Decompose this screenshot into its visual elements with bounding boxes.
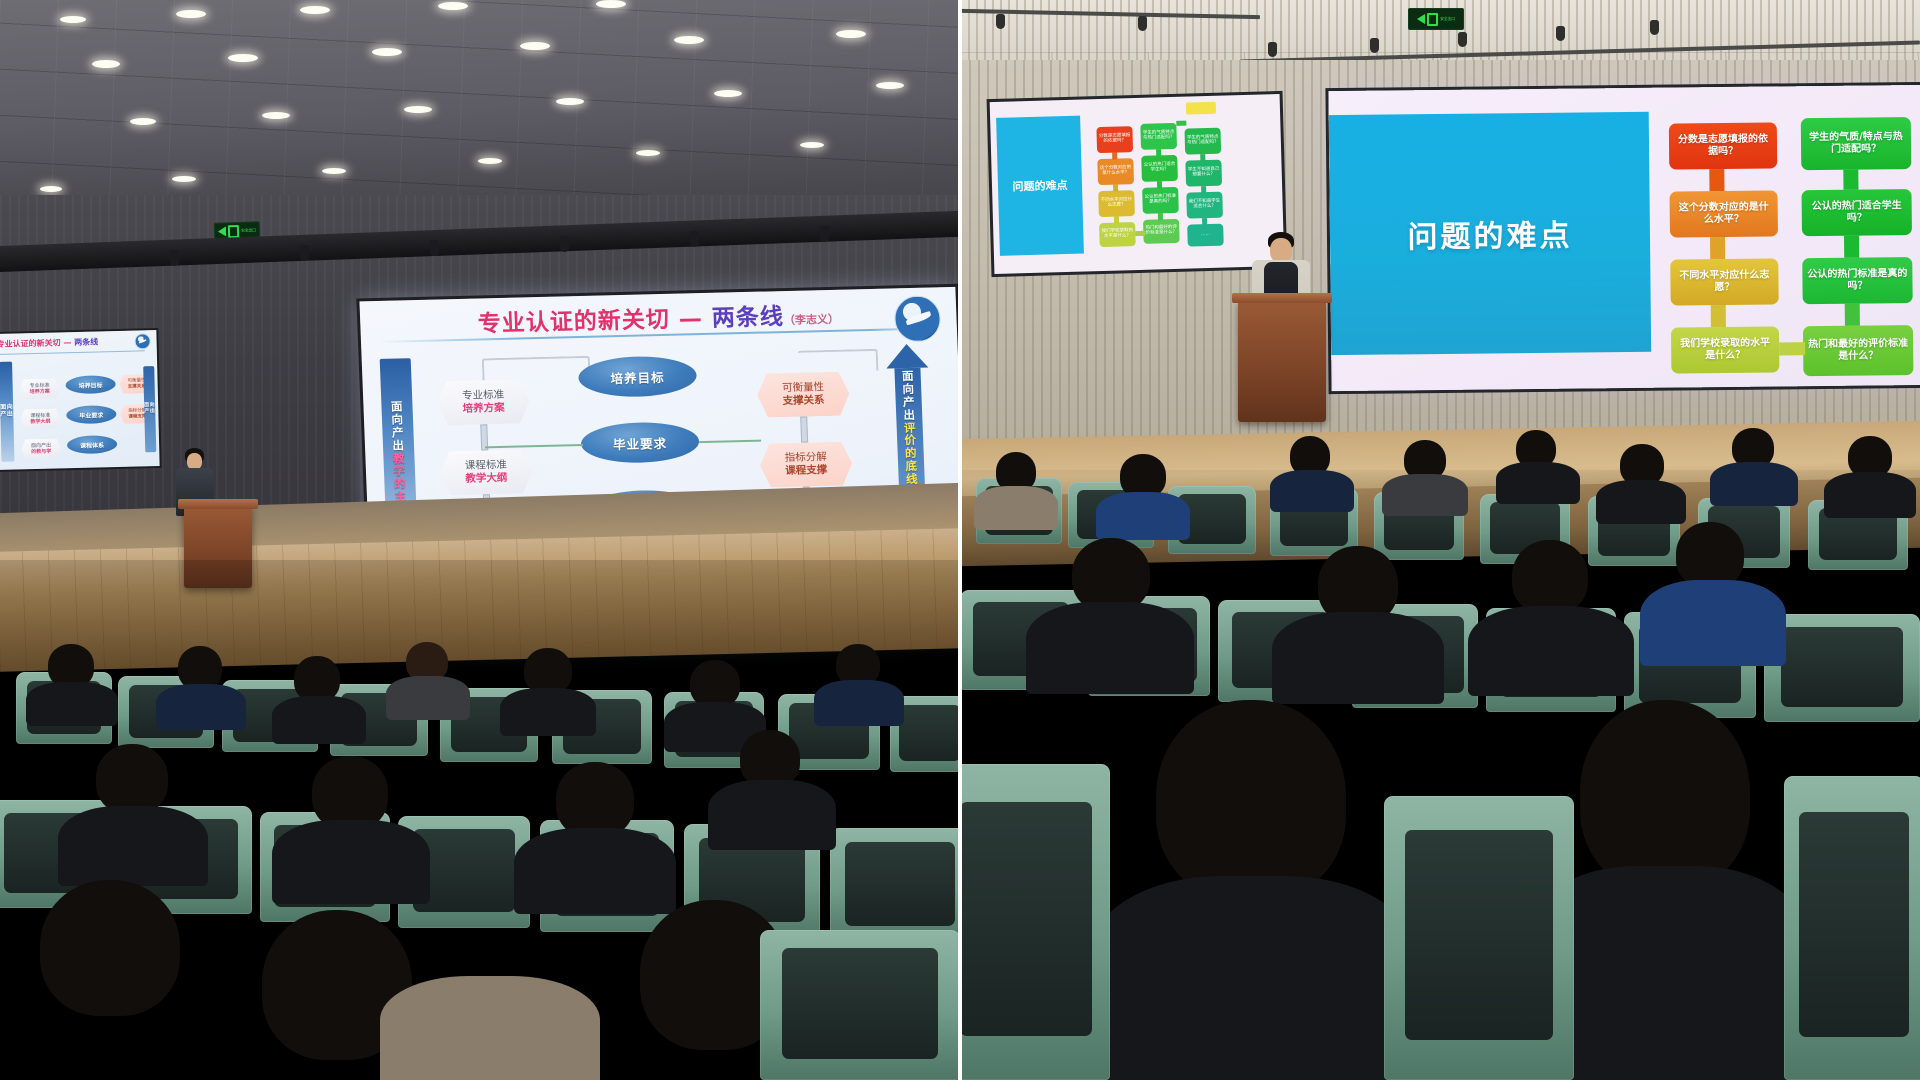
highlight-tag	[1186, 102, 1216, 115]
hex-line2: 培养方案	[462, 402, 504, 416]
right-axis-arrow: 面 向 产 出 评 价 的 底 线	[885, 344, 933, 491]
horizontal-connector	[485, 444, 583, 448]
audience-head	[1676, 522, 1744, 588]
exit-sign-label: 安全出口	[241, 228, 256, 233]
hex-line2: 课程支撑	[785, 464, 827, 478]
seat	[960, 764, 1110, 1080]
audience-shoulders	[814, 680, 904, 726]
hex-line2: 支撑关系	[782, 394, 824, 408]
side-slide-title-dash: —	[63, 338, 71, 347]
connector	[1156, 149, 1161, 156]
slide-title: 问题的难点	[1407, 211, 1572, 257]
audience-head	[96, 744, 168, 814]
connector	[1779, 342, 1805, 355]
ceiling-light	[300, 6, 330, 14]
audience-shoulders	[514, 828, 676, 914]
question-box: 这个分数对应的是什么水平？	[1670, 190, 1778, 237]
audience-shoulders	[58, 806, 208, 886]
running-man-icon	[228, 224, 239, 237]
connector	[1710, 237, 1725, 259]
hex-line2: 教学大纲	[465, 472, 507, 486]
audience-shoulders	[272, 820, 430, 904]
connector	[1176, 121, 1186, 126]
truss-spotlight	[170, 250, 179, 266]
ceiling-light	[876, 82, 904, 89]
vertical-connector	[800, 416, 808, 442]
seat	[1764, 614, 1920, 722]
side-slide-hex: 专业标准培养方案	[19, 378, 59, 399]
horizontal-connector	[699, 440, 761, 444]
truss-spotlight	[430, 240, 439, 256]
podium	[1238, 300, 1326, 422]
ellipse-node: 培养目标	[578, 355, 698, 398]
ceiling-light	[176, 10, 206, 18]
audience-shoulders	[1710, 462, 1798, 506]
side-slide-title-panel: 问题的难点	[996, 116, 1084, 256]
podium-top	[1232, 293, 1332, 303]
audience-shoulders	[26, 682, 118, 726]
side-slide-ellipse: 毕业要求	[66, 405, 116, 424]
exit-arrow-icon	[1417, 14, 1425, 24]
audience-shoulders	[1640, 580, 1786, 666]
ceiling-light	[714, 90, 742, 97]
audience-head-foreground	[1580, 700, 1750, 890]
connector-bracket	[482, 356, 591, 381]
audience-head	[556, 762, 634, 838]
side-slide-title-purple: 两条线	[74, 337, 98, 347]
audience-shoulders	[272, 696, 366, 744]
stage-front-panel	[0, 528, 960, 671]
connector	[1113, 185, 1118, 192]
ceiling-light	[40, 186, 62, 192]
slide-title-purple: 两条线	[711, 304, 784, 332]
ceiling-light	[636, 150, 660, 156]
audience-shoulders	[1088, 876, 1418, 1080]
ceiling-light	[596, 0, 626, 8]
audience-shoulders	[1270, 470, 1354, 512]
truss-spotlight	[690, 231, 699, 247]
hex-box: 课程标准 教学大纲	[439, 449, 533, 495]
connector	[1844, 236, 1859, 258]
truss-spotlight	[820, 226, 829, 242]
audience-shoulders	[386, 676, 470, 720]
audience-shoulders	[1596, 480, 1686, 524]
ceiling-light	[438, 2, 468, 10]
connector	[1157, 181, 1162, 188]
flow-box: 分数是志愿填报的依据吗？	[1096, 126, 1133, 153]
connector-bracket	[798, 349, 879, 373]
slide-title-panel: 问题的难点	[1329, 112, 1651, 355]
main-projection-screen-right: 问题的难点 分数是志愿填报的依据吗？ 这个分数对应的是什么水平？ 不同水平对应什…	[1328, 85, 1920, 391]
flow-box: 这个分数对应的是什么水平？	[1097, 158, 1134, 185]
audience-head	[1072, 538, 1150, 612]
ellipse-node: 毕业要求	[580, 421, 700, 464]
axis-char: 出	[392, 439, 404, 452]
podium	[184, 506, 252, 588]
hex-box: 专业标准 培养方案	[437, 379, 531, 425]
ceiling-light	[478, 158, 502, 164]
exit-arrow-icon	[218, 226, 226, 236]
running-man-icon	[1427, 13, 1438, 26]
track-spotlight	[1650, 20, 1659, 35]
lecture-hall-left-photo: 安全出口 专业认证的新关切 — 两条线 面向产出 专业标准培养方案 课程标准教学…	[0, 0, 960, 1080]
slide-title-red: 专业认证的新关切	[477, 307, 670, 338]
flow-box: 我们不知道学生适合什么？	[1186, 192, 1223, 219]
ceiling-light	[228, 54, 258, 62]
podium-top	[178, 499, 258, 509]
side-slide-rule	[0, 350, 145, 355]
audience-head	[40, 880, 180, 1016]
connector	[1112, 153, 1117, 160]
panel-divider	[958, 0, 962, 1080]
side-slide-left-axis: 面向产出	[0, 362, 14, 462]
side-projection-screen-right: 问题的难点 分数是志愿填报的依据吗？ 这个分数对应的是什么水平？ 不同水平对应什…	[990, 94, 1285, 274]
lecture-hall-right-photo: 安全出口 问题的难点 分数是志愿填报的依据吗？ 这个分数对应的是什么水平？ 不同…	[960, 0, 1920, 1080]
flow-box: ……	[1187, 224, 1224, 247]
audience-shoulders	[1272, 612, 1444, 704]
question-box: 热门和最好的评价标准是什么？	[1803, 325, 1914, 376]
ceiling-light	[674, 36, 704, 44]
track-spotlight	[1370, 38, 1379, 53]
flow-box: 学生不知道自己想要什么？	[1185, 160, 1222, 187]
track-spotlight	[1268, 42, 1277, 57]
ceiling-light	[60, 16, 86, 23]
connector	[1709, 169, 1724, 191]
hex-line1: 专业标准	[462, 389, 504, 403]
flow-box: 公认的热门标准是真的吗？	[1142, 187, 1179, 214]
axis-char: 产	[392, 426, 404, 439]
ceiling-light	[262, 112, 290, 119]
seat	[1384, 796, 1574, 1080]
ceiling-light	[372, 48, 402, 56]
connector	[1158, 213, 1163, 220]
audience-shoulders	[1382, 474, 1468, 516]
audience-shoulders	[156, 684, 246, 730]
ceiling-light	[520, 42, 550, 50]
connector	[1845, 304, 1860, 326]
audience-shoulders	[708, 780, 836, 850]
ceiling-light	[130, 118, 156, 125]
audience-head	[312, 756, 388, 830]
hex-line1: 指标分解	[785, 451, 827, 465]
audience-shoulders	[500, 688, 596, 736]
slide-author: （李志义）	[784, 313, 839, 327]
flow-box: 热门和最好的评价标准是什么？	[1143, 219, 1180, 244]
connector	[1202, 218, 1207, 225]
track-spotlight	[1556, 26, 1565, 41]
hex-box: 可衡量性 支撑关系	[757, 371, 851, 417]
flow-box: 不同水平对应什么志愿？	[1098, 190, 1135, 217]
exit-sign-label: 安全出口	[1440, 17, 1455, 21]
connector	[1843, 170, 1858, 190]
question-box: 分数是志愿填报的依据吗？	[1669, 122, 1777, 169]
side-slide-ellipse: 课程体系	[67, 435, 117, 454]
exit-sign: 安全出口	[1408, 8, 1464, 30]
connector	[1135, 231, 1145, 236]
ceiling-light	[404, 106, 432, 113]
side-slide-title-red: 专业认证的新关切	[0, 338, 61, 349]
audience-shoulders	[380, 976, 600, 1080]
side-slide-hex: 课程标准教学大纲	[20, 408, 60, 429]
hex-line1: 可衡量性	[782, 381, 824, 395]
flow-box: 学生的气质特点与热门适配吗？	[1140, 123, 1177, 150]
ceiling-light	[322, 168, 346, 174]
photo-composite: 安全出口 专业认证的新关切 — 两条线 面向产出 专业标准培养方案 课程标准教学…	[0, 0, 1920, 1080]
ceiling-light	[172, 176, 196, 182]
hex-box: 指标分解 课程支撑	[759, 441, 853, 487]
side-slide-title: 专业认证的新关切 — 两条线	[0, 336, 98, 349]
connector	[1114, 217, 1119, 224]
question-box: 公认的热门适合学生吗？	[1802, 189, 1912, 236]
seat	[830, 828, 960, 942]
audience-shoulders	[1496, 462, 1580, 504]
right-axis-label: 面 向 产 出 评 价 的 底 线	[894, 368, 925, 490]
track-spotlight	[1458, 32, 1467, 47]
flow-box: 学生的气质特点与热门适配吗？	[1184, 128, 1221, 155]
seat	[1784, 776, 1920, 1080]
audience-shoulders	[1468, 606, 1634, 696]
track-spotlight	[1138, 16, 1147, 31]
university-logo	[894, 295, 942, 342]
question-box: 学生的气质/特点与热门适配吗？	[1801, 117, 1912, 170]
slide-title-dash: —	[669, 306, 712, 333]
audience-shoulders	[1096, 492, 1190, 540]
question-box: 我们学校录取的水平是什么？	[1671, 326, 1779, 373]
up-arrow-icon	[885, 344, 928, 369]
side-slide-right-axis: 面向产出	[143, 366, 156, 452]
ceiling-light	[836, 30, 866, 38]
side-slide-hex: 面向产出的教与学	[21, 438, 61, 459]
side-slide-ellipse: 培养目标	[65, 375, 115, 394]
truss-spotlight	[560, 236, 569, 252]
hex-line1: 课程标准	[465, 459, 507, 473]
ceiling-light	[800, 142, 824, 148]
track-spotlight	[996, 14, 1005, 29]
connector	[1711, 305, 1726, 327]
ceiling-light	[92, 60, 120, 68]
university-logo	[134, 333, 150, 349]
audience-shoulders	[974, 486, 1058, 530]
audience-shoulders	[1026, 602, 1194, 694]
connector	[1201, 186, 1206, 193]
side-projection-screen-left: 专业认证的新关切 — 两条线 面向产出 专业标准培养方案 课程标准教学大纲 面向…	[0, 330, 160, 470]
connector	[1200, 154, 1205, 161]
question-box: 公认的热门标准是真的吗？	[1802, 257, 1912, 304]
question-box: 不同水平对应什么志愿？	[1670, 258, 1778, 305]
audience-head	[690, 660, 740, 708]
wood-grain	[0, 528, 960, 671]
audience-head-foreground	[1156, 700, 1346, 900]
audience-shoulders	[1824, 472, 1916, 518]
truss-spotlight	[300, 245, 309, 261]
seat	[760, 930, 960, 1080]
audience-head	[1512, 540, 1588, 614]
flow-box: 公认的热门适合学生吗？	[1141, 155, 1178, 182]
ceiling-light	[556, 98, 584, 105]
flow-box: 我们学校录取的水平是什么？	[1099, 222, 1136, 247]
